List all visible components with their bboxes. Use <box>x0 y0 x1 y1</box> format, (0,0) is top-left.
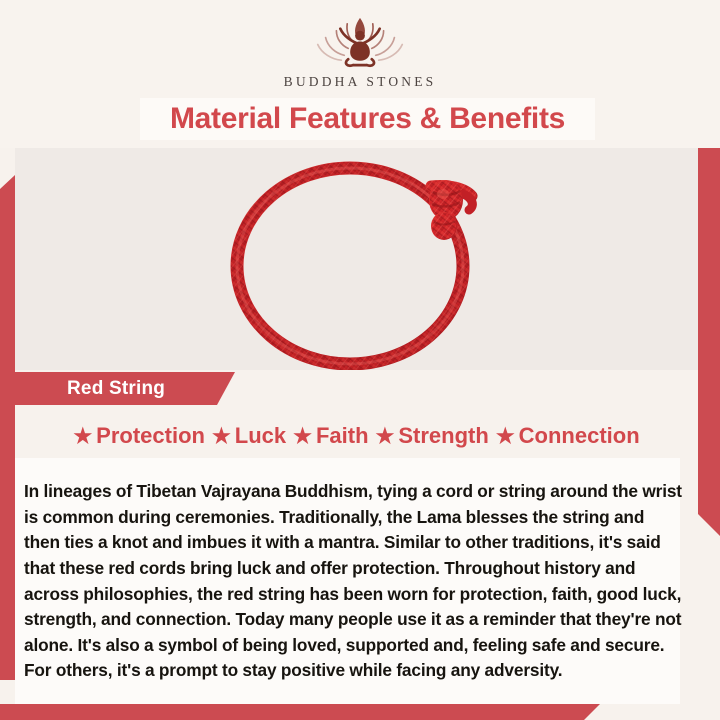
star-icon: ★ <box>73 426 92 447</box>
description-paragraph: In lineages of Tibetan Vajrayana Buddhis… <box>24 479 684 684</box>
benefit-item: ★ Faith <box>293 423 368 449</box>
benefit-label: Connection <box>519 423 640 449</box>
benefit-item: ★ Luck <box>212 423 286 449</box>
lotus-meditation-icon <box>305 14 415 72</box>
accent-bar-bottom-left <box>0 704 600 720</box>
description-card: In lineages of Tibetan Vajrayana Buddhis… <box>15 458 680 704</box>
benefit-label: Faith <box>316 423 369 449</box>
title-banner: Material Features & Benefits <box>140 98 595 140</box>
star-icon: ★ <box>293 426 312 447</box>
product-label-text: Red String <box>15 378 165 400</box>
benefit-item: ★ Strength <box>376 423 489 449</box>
brand-name: BUDDHA STONES <box>0 74 720 90</box>
product-label-banner: Red String <box>15 372 235 405</box>
header: BUDDHA STONES Material Features & Benefi… <box>0 0 720 148</box>
benefit-label: Protection <box>96 423 205 449</box>
star-icon: ★ <box>212 426 231 447</box>
benefit-label: Strength <box>398 423 488 449</box>
star-icon: ★ <box>376 426 395 447</box>
benefit-item: ★ Connection <box>496 423 640 449</box>
benefits-row: ★ Protection ★ Luck ★ Faith ★ Strength ★… <box>15 414 698 458</box>
page-title: Material Features & Benefits <box>170 102 565 136</box>
accent-bar-left <box>0 175 15 680</box>
infographic-page: BUDDHA STONES Material Features & Benefi… <box>0 0 720 720</box>
benefit-item: ★ Protection <box>73 423 205 449</box>
red-string-bracelet-image <box>217 148 497 370</box>
hero-product-area <box>15 148 698 370</box>
benefit-label: Luck <box>235 423 286 449</box>
brand-logo: BUDDHA STONES <box>0 14 720 90</box>
star-icon: ★ <box>496 426 515 447</box>
